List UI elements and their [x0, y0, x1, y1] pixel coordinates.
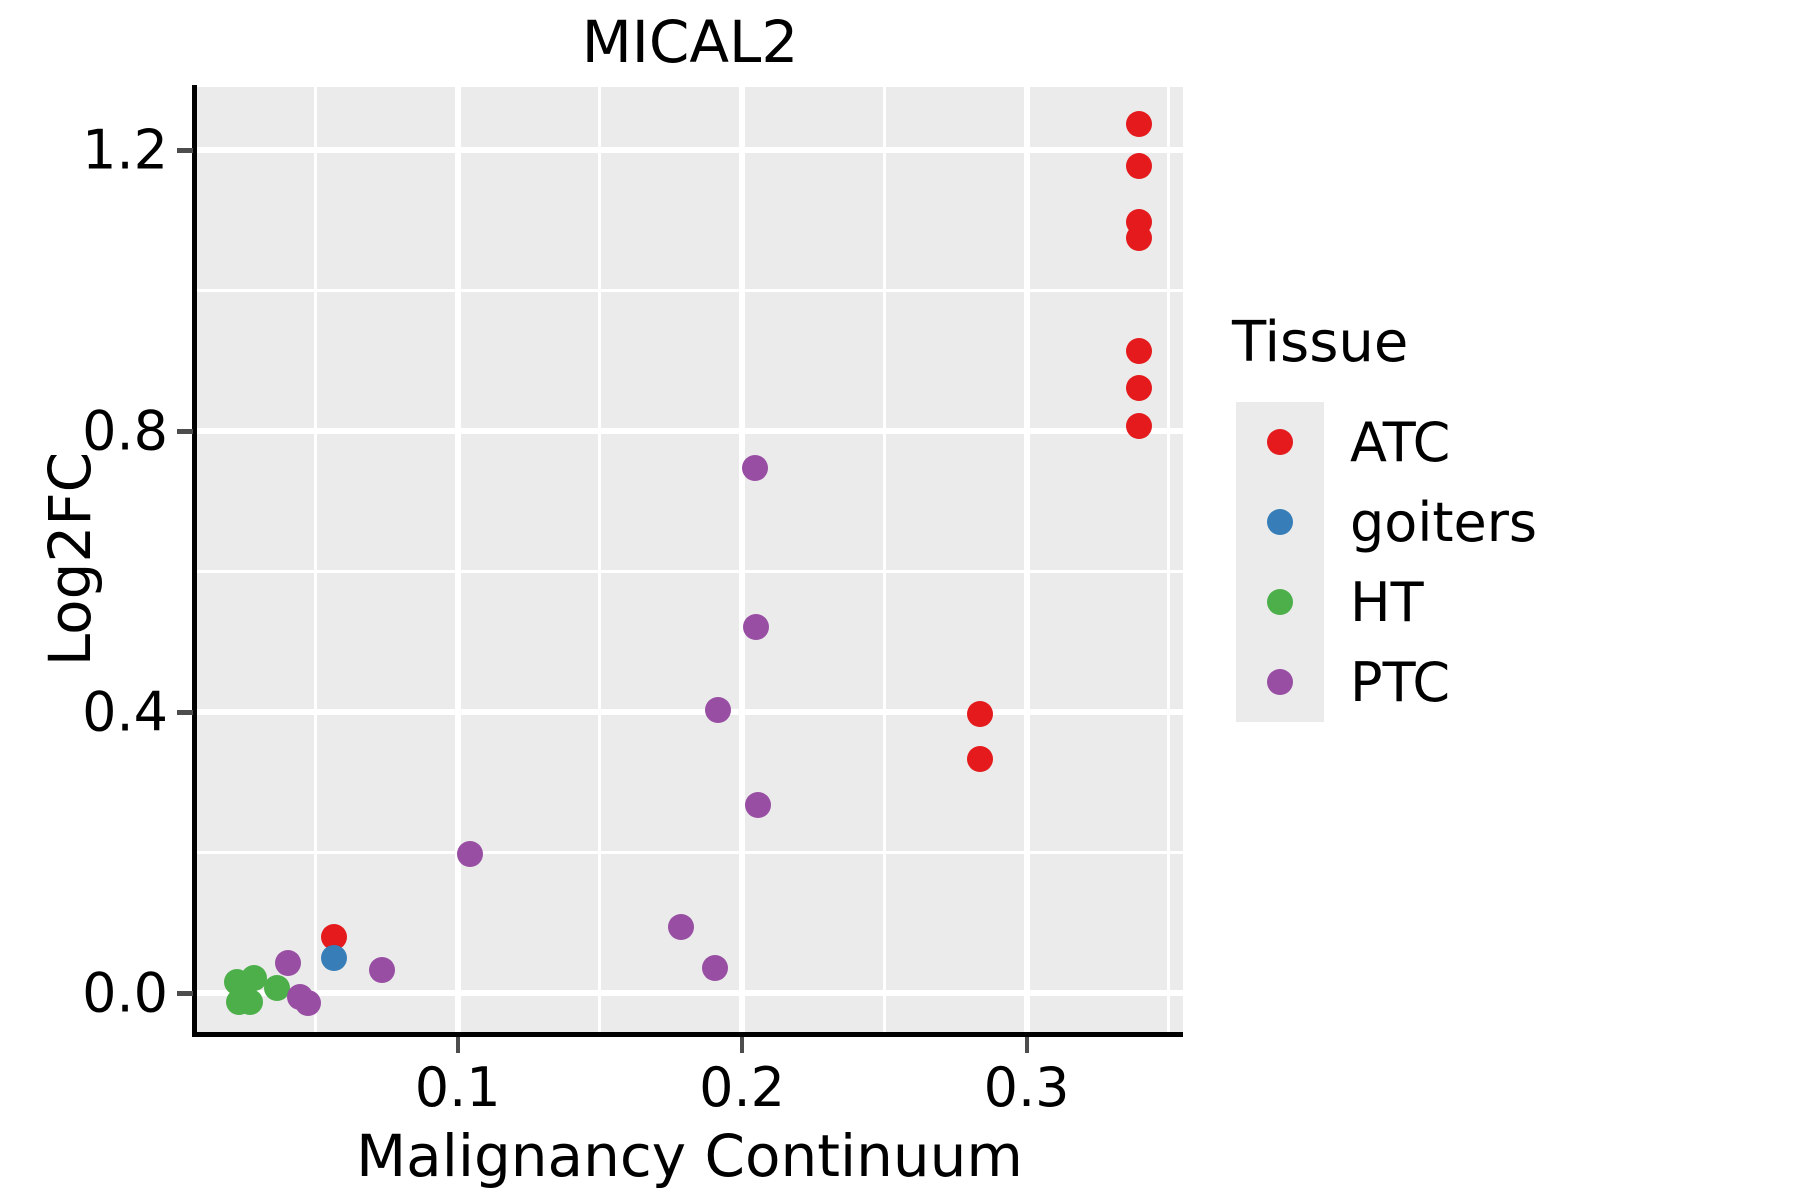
legend-item-goiters[interactable]: goiters [1236, 482, 1537, 562]
legend-key-swatch [1236, 642, 1324, 722]
data-point-atc [1126, 111, 1152, 137]
x-tick-label: 0.1 [415, 1056, 501, 1119]
data-point-ptc [275, 950, 301, 976]
x-tick-mark [740, 1037, 744, 1053]
legend-item-label: goiters [1350, 491, 1537, 554]
data-point-ptc [295, 990, 321, 1016]
page-title: MICAL2 [0, 8, 1380, 76]
data-point-goiters [321, 945, 347, 971]
legend-item-label: PTC [1350, 651, 1450, 714]
x-axis-line [192, 1032, 1183, 1037]
y-tick-mark [177, 148, 193, 153]
data-point-ptc [457, 841, 483, 867]
y-tick-mark [177, 710, 193, 715]
gridline-minor-horizontal [196, 851, 1183, 854]
y-axis-line [192, 85, 197, 1034]
gridline-major-horizontal [196, 990, 1183, 996]
x-tick-label: 0.2 [699, 1056, 785, 1119]
data-point-ptc [745, 792, 771, 818]
data-point-ptc [742, 455, 768, 481]
legend-entries: ATCgoitersHTPTC [1236, 402, 1537, 722]
y-tick-mark [177, 429, 193, 434]
data-point-atc [1126, 375, 1152, 401]
data-point-ptc [705, 697, 731, 723]
x-axis-label: Malignancy Continuum [196, 1122, 1183, 1190]
data-point-ptc [668, 914, 694, 940]
data-point-ptc [369, 957, 395, 983]
gridline-minor-vertical [598, 87, 601, 1032]
data-point-atc [967, 701, 993, 727]
legend-item-ht[interactable]: HT [1236, 562, 1537, 642]
gridline-major-horizontal [196, 428, 1183, 434]
gridline-major-vertical [739, 87, 745, 1032]
gridline-minor-horizontal [196, 570, 1183, 573]
data-point-atc [1126, 338, 1152, 364]
gridline-major-vertical [455, 87, 461, 1032]
gridline-minor-vertical [883, 87, 886, 1032]
gridline-minor-vertical [314, 87, 317, 1032]
legend-dot-icon [1267, 669, 1293, 695]
data-point-atc [967, 746, 993, 772]
x-tick-mark [1025, 1037, 1029, 1053]
plot-panel [196, 87, 1183, 1032]
legend-item-label: HT [1350, 571, 1424, 634]
legend-item-atc[interactable]: ATC [1236, 402, 1537, 482]
legend-dot-icon [1267, 509, 1293, 535]
x-tick-label: 0.3 [984, 1056, 1070, 1119]
legend-dot-icon [1267, 589, 1293, 615]
gridline-major-horizontal [196, 147, 1183, 153]
y-tick-mark [177, 991, 193, 996]
legend-key-swatch [1236, 482, 1324, 562]
gridline-minor-vertical [1167, 87, 1170, 1032]
data-point-ptc [702, 955, 728, 981]
y-axis-label: Log2FC [36, 159, 104, 959]
data-point-ptc [743, 614, 769, 640]
legend-title: Tissue [1232, 310, 1752, 375]
gridline-minor-horizontal [196, 289, 1183, 292]
data-point-ht [237, 989, 263, 1015]
legend-item-ptc[interactable]: PTC [1236, 642, 1537, 722]
data-point-atc [1126, 413, 1152, 439]
legend-key-swatch [1236, 402, 1324, 482]
chart-root: MICAL2 0.00.40.81.20.10.20.3 Malignancy … [0, 0, 1800, 1200]
gridline-major-vertical [1024, 87, 1030, 1032]
y-tick-label: 0.0 [82, 962, 168, 1025]
data-point-atc [1126, 225, 1152, 251]
x-tick-mark [456, 1037, 460, 1053]
legend: Tissue ATCgoitersHTPTC [1232, 310, 1752, 397]
gridline-major-horizontal [196, 709, 1183, 715]
legend-key-swatch [1236, 562, 1324, 642]
legend-dot-icon [1267, 429, 1293, 455]
data-point-atc [1126, 153, 1152, 179]
legend-item-label: ATC [1350, 411, 1450, 474]
